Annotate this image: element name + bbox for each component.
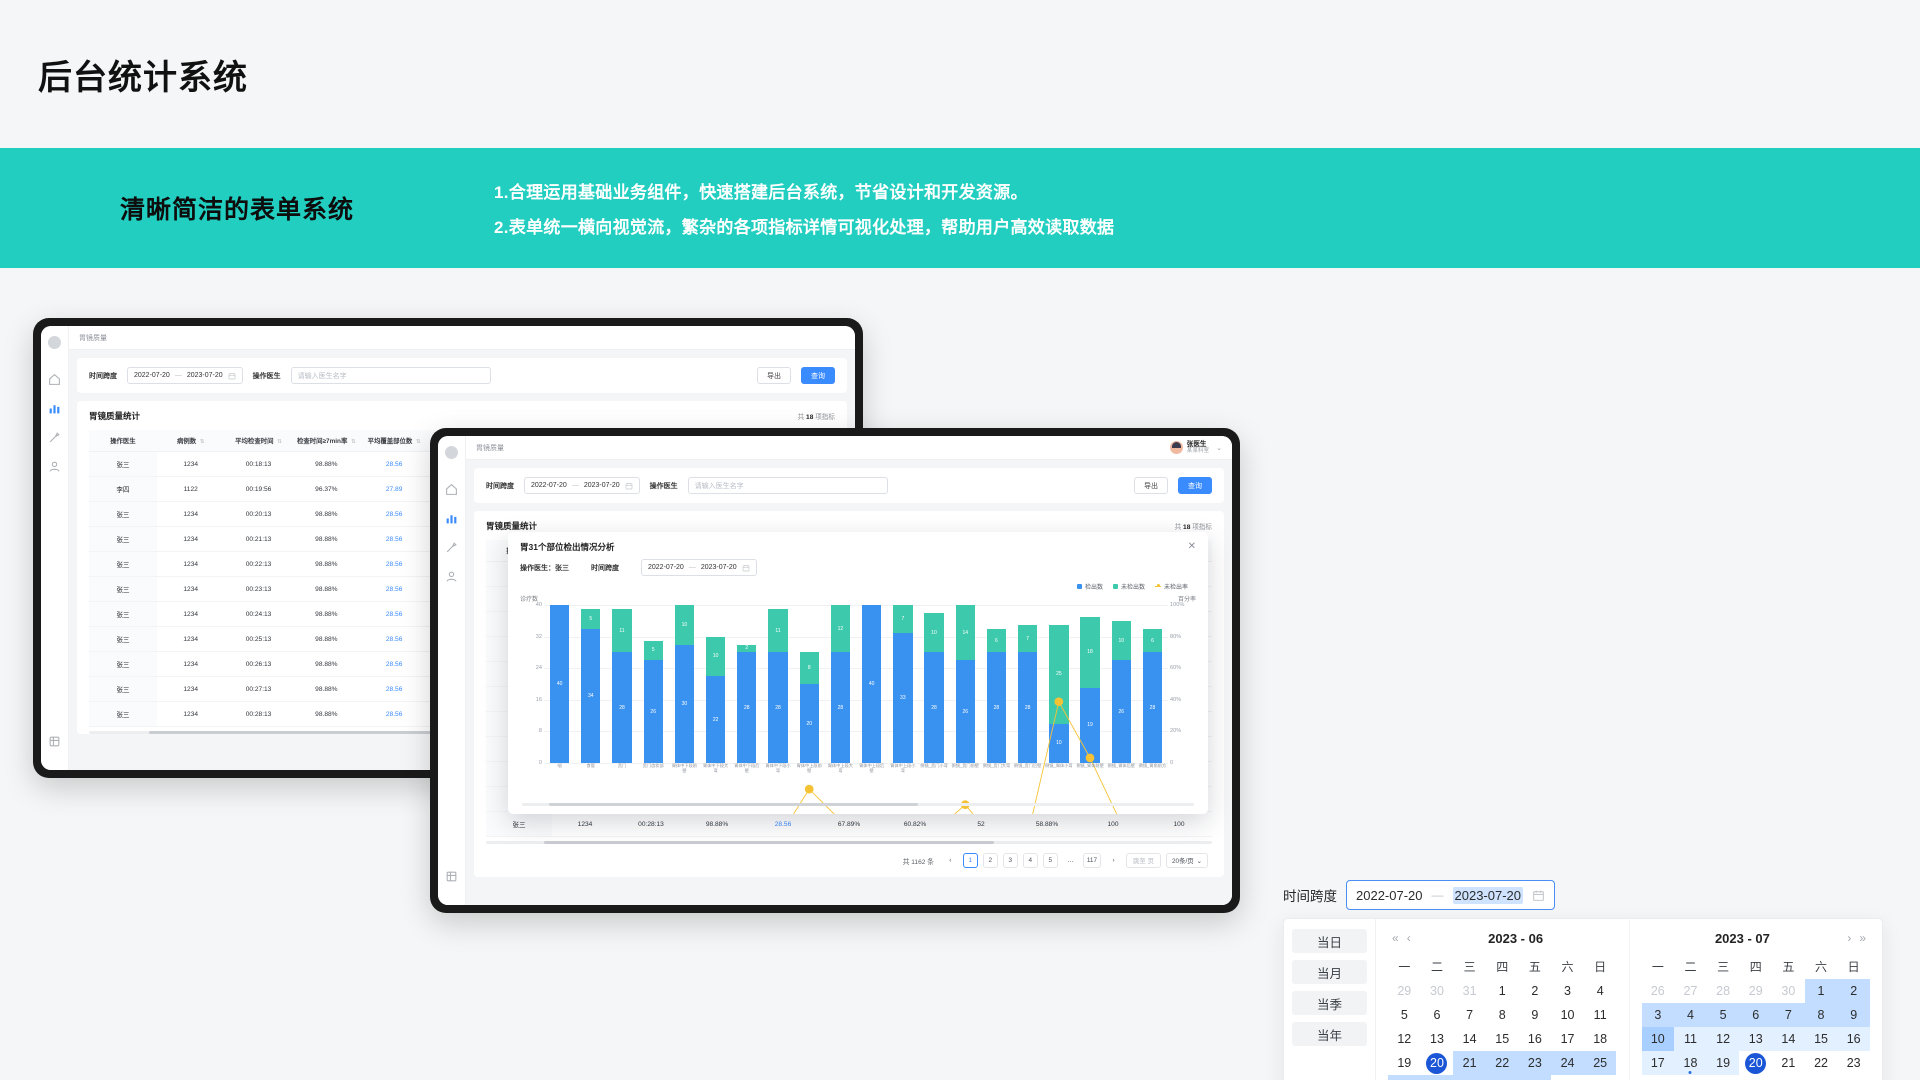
date-range-input[interactable]: 2022-07-20 — 2023-07-20	[524, 477, 640, 494]
home-icon[interactable]	[48, 373, 61, 386]
tools-icon[interactable]	[48, 431, 61, 444]
table-horizontal-scrollbar[interactable]	[486, 841, 1212, 844]
x-axis-tick: 倒镜_贲门后壁	[1012, 763, 1043, 781]
table-cell: 张三	[89, 527, 157, 552]
x-axis-tick: 胃体中上段前壁	[794, 763, 825, 781]
calendar-day[interactable]: 7	[1772, 1003, 1805, 1027]
calendar-day[interactable]: 16	[1519, 1027, 1552, 1051]
table-cell: 28.56	[360, 502, 428, 527]
table-column-header[interactable]: 病例数 ⇅	[157, 430, 225, 452]
user-menu[interactable]: 张医生 某某科室 ⌄	[1170, 441, 1222, 455]
table-cell: 00:27:13	[225, 677, 293, 702]
settings-icon[interactable]	[48, 735, 61, 748]
pagination-page[interactable]: 4	[1023, 853, 1038, 868]
app-logo	[445, 446, 458, 459]
calendar-day[interactable]: 1	[1486, 979, 1519, 1003]
calendar-day[interactable]: 4	[1584, 979, 1617, 1003]
table-cell: 1234	[157, 452, 225, 477]
calendar-day[interactable]: 15	[1805, 1027, 1838, 1051]
table-cell: 28.56	[360, 552, 428, 577]
calendar-day[interactable]: 17	[1642, 1051, 1675, 1075]
x-axis-tick: 胃体中下段前壁	[669, 763, 700, 781]
next-month-icon[interactable]: ›	[1843, 931, 1855, 945]
x-axis-tick: 胃体中上段小弯	[887, 763, 918, 781]
table-cell: 00:28:13	[618, 812, 684, 837]
calendar-day[interactable]: 25	[1674, 1075, 1707, 1080]
showcase-stage: 胃镜质量 时间跨度 2022-07-20 — 2023-07-20	[0, 268, 1920, 1080]
calendar-day[interactable]: 13	[1421, 1027, 1454, 1051]
user-department: 某某科室	[1187, 448, 1209, 454]
table-cell: 96.37%	[292, 477, 360, 502]
calendar-day[interactable]: 3	[1642, 1003, 1675, 1027]
table-cell: 28.56	[360, 652, 428, 677]
weekday-label: 日	[1584, 954, 1617, 979]
chart-rate-point[interactable]	[1086, 754, 1095, 763]
table-cell: 98.88%	[292, 502, 360, 527]
calendar-day[interactable]: 14	[1772, 1027, 1805, 1051]
app-logo	[48, 336, 61, 349]
calendar-day[interactable]: 10	[1551, 1003, 1584, 1027]
weekday-label: 日	[1837, 954, 1870, 979]
calendar-day[interactable]: 26	[1642, 979, 1675, 1003]
datepicker-month: «‹2023 - 06一二三四五六日2930311234567891011121…	[1376, 919, 1629, 1080]
calendar-day[interactable]: 6	[1739, 1003, 1772, 1027]
calendar-day[interactable]: 12	[1707, 1027, 1740, 1051]
x-axis-tick: 胃体中下段后壁	[731, 763, 762, 781]
table-cell: 98.88%	[292, 527, 360, 552]
table-cell: 100	[1146, 812, 1212, 837]
calendar-day[interactable]: 27	[1421, 1075, 1454, 1080]
calendar-day[interactable]: 31	[1453, 979, 1486, 1003]
calendar-day[interactable]: 17	[1551, 1027, 1584, 1051]
calendar-day[interactable]: 21	[1453, 1051, 1486, 1075]
user-name: 张医生	[1187, 441, 1209, 449]
table-cell: 张三	[89, 577, 157, 602]
table-cell: 27.89	[360, 477, 428, 502]
pagination-page[interactable]: 3	[1003, 853, 1018, 868]
calendar-day[interactable]: 23	[1837, 1051, 1870, 1075]
table-cell: 28.56	[360, 677, 428, 702]
table-cell: 00:19:56	[225, 477, 293, 502]
datepicker-label: 时间跨度	[1283, 885, 1337, 905]
table-cell: 00:18:13	[225, 452, 293, 477]
calendar-icon[interactable]	[1532, 889, 1545, 902]
doctor-input[interactable]: 请输入医生名字	[291, 367, 491, 384]
count-prefix: 共	[1175, 524, 1182, 531]
legend-label: 未检出率	[1164, 582, 1188, 591]
analysis-modal: 胃31个部位检出情况分析 ✕ 操作医生：张三 时间跨度 2022-07-20 —	[508, 532, 1208, 814]
x-axis-tick: 倒镜_胃体小弯	[1043, 763, 1074, 781]
table-cell: 98.88%	[292, 452, 360, 477]
export-button[interactable]: 导出	[1134, 477, 1168, 494]
calendar-day[interactable]: 18	[1584, 1027, 1617, 1051]
table-cell: 1234	[157, 527, 225, 552]
pagination-jump[interactable]: 跳至 页	[1126, 853, 1161, 868]
calendar-day[interactable]: 25	[1584, 1051, 1617, 1075]
band-line-2: 2.表单统一横向视觉流，繁杂的各项指标详情可视化处理，帮助用户高效读取数据	[494, 213, 1114, 238]
breadcrumb: 胃镜质量	[476, 443, 504, 453]
datepicker-end-value[interactable]: 2023-07-20	[1453, 887, 1524, 904]
y2-tick: 20%	[1170, 728, 1196, 734]
table-cell: 1234	[552, 812, 618, 837]
legend-item-undetected[interactable]: 未检出数	[1113, 582, 1145, 591]
date-end-value: 2023-07-20	[701, 564, 737, 571]
chart-legend: 检出数 未检出数 未检出率	[518, 582, 1198, 591]
next-year-icon[interactable]: »	[1855, 931, 1870, 945]
calendar-day[interactable]: 20	[1739, 1051, 1772, 1075]
table-cell: 00:22:13	[225, 552, 293, 577]
chart-rate-point[interactable]	[1054, 697, 1063, 706]
legend-item-rate[interactable]: 未检出率	[1155, 582, 1188, 591]
calendar-day[interactable]: 13	[1739, 1027, 1772, 1051]
calendar-day[interactable]: 30	[1421, 979, 1454, 1003]
weekday-label: 三	[1707, 954, 1740, 979]
table-cell: 28.56	[360, 602, 428, 627]
date-end-value: 2023-07-20	[187, 372, 223, 379]
table-cell: 00:23:13	[225, 577, 293, 602]
table-cell: 28.56	[360, 452, 428, 477]
calendar-day[interactable]: 26	[1707, 1075, 1740, 1080]
table-cell: 1234	[157, 602, 225, 627]
weekday-label: 四	[1739, 954, 1772, 979]
calendar-day[interactable]: 4	[1674, 1003, 1707, 1027]
calendar-day[interactable]: 6	[1421, 1003, 1454, 1027]
count-suffix: 项指标	[1192, 524, 1212, 531]
datepicker-month: 2023 - 07›»一二三四五六日2627282930123456789101…	[1629, 919, 1883, 1080]
table-cell: 98.88%	[292, 677, 360, 702]
table-cell: 58.88%	[1014, 812, 1080, 837]
x-axis-tick: 倒镜_贲门大弯	[981, 763, 1012, 781]
table-cell: 1234	[157, 627, 225, 652]
table-cell: 00:28:13	[225, 702, 293, 727]
table-title: 胃镜质量统计	[486, 520, 537, 532]
user-icon[interactable]	[445, 570, 458, 583]
calendar-day[interactable]: 1	[1551, 1075, 1584, 1080]
x-axis-tick: 胃体中上段大弯	[825, 763, 856, 781]
month-title: 2023 - 07	[1642, 931, 1844, 946]
table-cell: 98.88%	[292, 602, 360, 627]
table-cell: 00:20:13	[225, 502, 293, 527]
calendar-day[interactable]: 21	[1772, 1051, 1805, 1075]
table-cell: 张三	[89, 652, 157, 677]
table-cell: 28.56	[360, 527, 428, 552]
weekday-label: 四	[1486, 954, 1519, 979]
table-cell: 28.56	[360, 627, 428, 652]
calendar-day[interactable]: 28	[1707, 979, 1740, 1003]
x-axis-tick: 食管	[575, 763, 606, 781]
count-prefix: 共	[798, 414, 805, 421]
weekday-label: 二	[1421, 954, 1454, 979]
table-cell: 28.56	[750, 812, 816, 837]
calendar-day[interactable]: 27	[1739, 1075, 1772, 1080]
datepicker-input[interactable]: 2022-07-20 — 2023-07-20	[1346, 880, 1555, 910]
calendar-icon	[625, 482, 633, 490]
time-range-label: 时间跨度	[486, 481, 514, 491]
settings-icon[interactable]	[445, 870, 458, 883]
calendar-day[interactable]: 3	[1551, 979, 1584, 1003]
x-axis-tick: 胃体中下段小弯	[762, 763, 793, 781]
chart-rate-point[interactable]	[805, 785, 814, 794]
calendar-day[interactable]: 12	[1388, 1027, 1421, 1051]
chart-rate-line	[544, 605, 1168, 814]
y-tick: 16	[520, 697, 542, 703]
weekday-label: 五	[1519, 954, 1552, 979]
date-separator: —	[572, 482, 579, 489]
datepicker-start-value[interactable]: 2022-07-20	[1356, 888, 1423, 903]
x-axis-tick: 倒镜_贲门前壁	[950, 763, 981, 781]
datepicker-quick-options[interactable]: 当日当月当季当年	[1284, 919, 1376, 1080]
calendar-day[interactable]: 2	[1837, 979, 1870, 1003]
prev-year-icon[interactable]: «	[1388, 931, 1403, 945]
table-cell: 1234	[157, 577, 225, 602]
band-description-list: 1.合理运用基础业务组件，快速搭建后台系统，节省设计和开发资源。 2.表单统一横…	[494, 178, 1114, 238]
date-end-value: 2023-07-20	[584, 482, 620, 489]
table-cell: 98.88%	[684, 812, 750, 837]
pagination-total: 共 1162 条	[903, 856, 934, 866]
calendar-day[interactable]: 15	[1486, 1027, 1519, 1051]
modal-title: 胃31个部位检出情况分析	[520, 541, 614, 553]
count-suffix: 项指标	[815, 414, 835, 421]
table-cell: 98.88%	[292, 552, 360, 577]
calendar-day[interactable]: 16	[1837, 1027, 1870, 1051]
table-cell: 67.89%	[816, 812, 882, 837]
chart-icon[interactable]	[48, 402, 61, 415]
table-column-header[interactable]: 检查时间≥7min率 ⇅	[292, 430, 360, 452]
weekday-label: 六	[1551, 954, 1584, 979]
modal-doctor-label: 操作医生：张三	[520, 563, 569, 573]
table-cell: 张三	[89, 602, 157, 627]
datepicker-panel: 当日当月当季当年 «‹2023 - 06一二三四五六日2930311234567…	[1283, 918, 1883, 1080]
table-cell: 98.88%	[292, 652, 360, 677]
window-detail-analysis: 胃镜质量 张医生 某某科室 ⌄	[430, 428, 1240, 913]
modal-date-range-input[interactable]: 2022-07-20 — 2023-07-20	[641, 559, 757, 576]
y-tick: 40	[520, 602, 542, 608]
calendar-day[interactable]: 18	[1674, 1051, 1707, 1075]
pagination-prev[interactable]: ‹	[943, 853, 958, 868]
prev-month-icon[interactable]: ‹	[1403, 931, 1415, 945]
datepicker-quick-option[interactable]: 当日	[1292, 929, 1367, 953]
calendar-day[interactable]: 24	[1642, 1075, 1675, 1080]
weekday-label: 一	[1642, 954, 1675, 979]
calendar-day[interactable]: 24	[1551, 1051, 1584, 1075]
table-cell: 00:25:13	[225, 627, 293, 652]
doctor-label: 操作医生	[253, 371, 281, 381]
pagination-page[interactable]: 2	[983, 853, 998, 868]
y-tick: 8	[520, 728, 542, 734]
calendar-day[interactable]: 22	[1486, 1051, 1519, 1075]
count-value: 18	[806, 414, 813, 421]
table-cell: 00:24:13	[225, 602, 293, 627]
table-indicator-count: 共 18 项指标	[798, 411, 835, 421]
datepicker-quick-option[interactable]: 当年	[1292, 1022, 1367, 1046]
calendar-day[interactable]: 19	[1707, 1051, 1740, 1075]
y2-tick: 60%	[1170, 665, 1196, 671]
app-topbar-front: 胃镜质量 张医生 某某科室 ⌄	[466, 436, 1232, 460]
table-cell: 00:26:13	[225, 652, 293, 677]
legend-label: 检出数	[1085, 582, 1103, 591]
date-start-value: 2022-07-20	[531, 482, 567, 489]
calendar-day[interactable]: 28	[1772, 1075, 1805, 1080]
calendar-day[interactable]: 7	[1453, 1003, 1486, 1027]
y2-tick: 0	[1170, 760, 1196, 766]
calendar-day[interactable]: 11	[1674, 1027, 1707, 1051]
doctor-input[interactable]: 请输入医生名字	[688, 477, 888, 494]
home-icon[interactable]	[445, 483, 458, 496]
y-tick: 0	[520, 760, 542, 766]
calendar-day[interactable]: 29	[1388, 979, 1421, 1003]
calendar-day[interactable]: 11	[1584, 1003, 1617, 1027]
date-range-input[interactable]: 2022-07-20 — 2023-07-20	[127, 367, 243, 384]
calendar-day[interactable]: 2	[1519, 979, 1552, 1003]
datepicker-quick-option[interactable]: 当季	[1292, 991, 1367, 1015]
table-indicator-count: 共 18 项指标	[1175, 521, 1212, 531]
calendar-day[interactable]: 19	[1388, 1051, 1421, 1075]
pagination-page[interactable]: 1	[963, 853, 978, 868]
table-cell: 98.88%	[292, 702, 360, 727]
date-start-value: 2022-07-20	[134, 372, 170, 379]
datepicker-calendars: «‹2023 - 06一二三四五六日2930311234567891011121…	[1376, 919, 1882, 1080]
calendar-day[interactable]: 20	[1421, 1051, 1454, 1075]
table-row[interactable]: 张三123400:28:1398.88%28.5667.89%60.82%525…	[486, 812, 1212, 837]
band-title: 清晰简洁的表单系统	[120, 190, 354, 226]
calendar-icon	[228, 372, 236, 380]
sidebar-rail[interactable]	[41, 326, 69, 770]
table-column-header[interactable]: 平均覆盖部位数 ⇅	[360, 430, 428, 452]
pagination-last-page[interactable]: 117	[1083, 853, 1101, 868]
datepicker-separator: —	[1432, 888, 1444, 902]
close-icon[interactable]: ✕	[1188, 542, 1196, 552]
table-cell: 1234	[157, 652, 225, 677]
calendar-icon	[742, 564, 750, 572]
table-cell: 100	[1080, 812, 1146, 837]
x-axis-tick: 倒镜_胃角前方	[1137, 763, 1168, 781]
calendar-day[interactable]: 14	[1453, 1027, 1486, 1051]
calendar-day[interactable]: 9	[1837, 1003, 1870, 1027]
export-button[interactable]: 导出	[757, 367, 791, 384]
table-cell: 张三	[89, 552, 157, 577]
table-cell: 98.88%	[292, 627, 360, 652]
query-button[interactable]: 查询	[801, 367, 835, 384]
datepicker-showcase: 时间跨度 2022-07-20 — 2023-07-20 当日当月当季当年 «‹…	[1283, 880, 1883, 1080]
table-title: 胃镜质量统计	[89, 410, 140, 422]
table-cell: 1234	[157, 702, 225, 727]
filter-card: 时间跨度 2022-07-20 — 2023-07-20 操作医生 请输入医生名…	[77, 358, 847, 393]
calendar-day[interactable]: 28	[1453, 1075, 1486, 1080]
calendar-day[interactable]: 1	[1805, 979, 1838, 1003]
chevron-down-icon[interactable]: ⌄	[1216, 444, 1222, 452]
calendar-day[interactable]: 8	[1805, 1003, 1838, 1027]
table-cell: 张三	[486, 812, 552, 837]
calendar-day[interactable]: 5	[1707, 1003, 1740, 1027]
table-cell: 1234	[157, 502, 225, 527]
legend-item-detected[interactable]: 检出数	[1077, 582, 1103, 591]
calendar-day[interactable]: 8	[1486, 1003, 1519, 1027]
x-axis-tick: 倒镜_胃体前壁	[1074, 763, 1105, 781]
weekday-label: 六	[1805, 954, 1838, 979]
calendar-day[interactable]: 26	[1388, 1075, 1421, 1080]
calendar-day[interactable]: 10	[1642, 1027, 1675, 1051]
x-axis-tick: 胃体中下段大弯	[700, 763, 731, 781]
pagination-page-size[interactable]: 20条/页 ⌄	[1166, 853, 1208, 868]
pagination-next[interactable]: ›	[1106, 853, 1121, 868]
table-cell: 00:21:13	[225, 527, 293, 552]
page-header: 后台统计系统	[0, 0, 1920, 148]
band-line-1: 1.合理运用基础业务组件，快速搭建后台系统，节省设计和开发资源。	[494, 178, 1114, 203]
avatar	[1170, 441, 1183, 454]
weekday-label: 三	[1453, 954, 1486, 979]
calendar-day[interactable]: 29	[1739, 979, 1772, 1003]
doctor-label: 操作医生	[650, 481, 678, 491]
user-icon[interactable]	[48, 460, 61, 473]
feature-band: 清晰简洁的表单系统 1.合理运用基础业务组件，快速搭建后台系统，节省设计和开发资…	[0, 148, 1920, 268]
weekday-label: 一	[1388, 954, 1421, 979]
filter-card-front: 时间跨度 2022-07-20 — 2023-07-20 操作医生 请输入医生名…	[474, 468, 1224, 503]
table-cell: 张三	[89, 702, 157, 727]
calendar-day[interactable]: 29	[1486, 1075, 1519, 1080]
table-column-header[interactable]: 操作医生	[89, 430, 157, 452]
calendar-day[interactable]: 5	[1388, 1003, 1421, 1027]
calendar-day[interactable]: 2	[1584, 1075, 1617, 1080]
table-cell: 1234	[157, 552, 225, 577]
x-axis-tick: 贲门	[606, 763, 637, 781]
calendar-day[interactable]: 30	[1837, 1075, 1870, 1080]
calendar-day[interactable]: 30	[1519, 1075, 1552, 1080]
pagination[interactable]: 共 1162 条 ‹ 12345 … 117 › 跳至 页 20条/页 ⌄	[486, 844, 1212, 877]
date-separator: —	[175, 372, 182, 379]
calendar-day[interactable]: 9	[1519, 1003, 1552, 1027]
detection-chart: 检出数 未检出数 未检出率 诊疗数 百分率 40100%3280%2460%16…	[508, 582, 1208, 803]
calendar-day[interactable]: 30	[1772, 979, 1805, 1003]
pagination-page[interactable]: 5	[1043, 853, 1058, 868]
page-title: 后台统计系统	[38, 50, 248, 99]
legend-label: 未检出数	[1121, 582, 1145, 591]
calendar-day[interactable]: 27	[1674, 979, 1707, 1003]
chart-icon[interactable]	[445, 512, 458, 525]
table-cell: 1122	[157, 477, 225, 502]
x-axis-tick: 咽	[544, 763, 575, 781]
time-range-label: 时间跨度	[89, 371, 117, 381]
y-tick: 32	[520, 634, 542, 640]
month-title: 2023 - 06	[1415, 931, 1617, 946]
calendar-day[interactable]: 22	[1805, 1051, 1838, 1075]
breadcrumb: 胃镜质量	[79, 333, 107, 343]
calendar-day[interactable]: 23	[1519, 1051, 1552, 1075]
table-cell: 98.88%	[292, 577, 360, 602]
chevron-down-icon: ⌄	[1197, 857, 1202, 865]
table-column-header[interactable]: 平均检查时间 ⇅	[225, 430, 293, 452]
table-cell: 1234	[157, 677, 225, 702]
calendar-day[interactable]: 29	[1805, 1075, 1838, 1080]
datepicker-quick-option[interactable]: 当月	[1292, 960, 1367, 984]
table-cell: 张三	[89, 627, 157, 652]
table-cell: 28.56	[360, 702, 428, 727]
tools-icon[interactable]	[445, 541, 458, 554]
table-cell: 28.56	[360, 577, 428, 602]
x-axis-tick: 贲门齿状部	[638, 763, 669, 781]
table-cell: 张三	[89, 677, 157, 702]
chart-horizontal-scrollbar[interactable]	[522, 803, 1194, 806]
x-axis-tick: 倒镜_胃体后壁	[1106, 763, 1137, 781]
page-size-label: 20条/页	[1172, 856, 1194, 865]
table-cell: 60.82%	[882, 812, 948, 837]
x-axis-tick: 胃体中上段后壁	[856, 763, 887, 781]
query-button[interactable]: 查询	[1178, 477, 1212, 494]
sidebar-rail-front[interactable]	[438, 436, 466, 905]
weekday-label: 五	[1772, 954, 1805, 979]
table-cell: 52	[948, 812, 1014, 837]
pagination-ellipsis: …	[1063, 853, 1078, 868]
y2-tick: 40%	[1170, 697, 1196, 703]
